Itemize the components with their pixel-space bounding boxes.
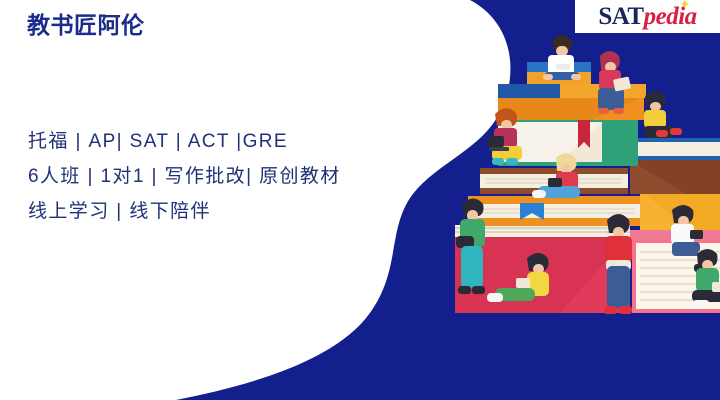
satpedia-logo[interactable]: SATpedia ✦: [575, 0, 720, 33]
person-top-reader: [543, 35, 581, 80]
course-line-formats: 6人班 | 1对1 | 写作批改| 原创教材: [28, 159, 341, 194]
page-title: 教书匠阿伦: [27, 11, 145, 39]
logo-wordmark: SATpedia ✦: [598, 3, 696, 30]
star-icon: ✦: [679, 0, 691, 12]
logo-sat-text: SAT: [598, 3, 643, 30]
person-yellow-reader: [644, 91, 682, 138]
promo-banner: 教书匠阿伦 托福 | AP| SAT | ACT |GRE 6人班 | 1对1 …: [0, 0, 720, 400]
course-info-block: 托福 | AP| SAT | ACT |GRE 6人班 | 1对1 | 写作批改…: [28, 124, 341, 229]
course-line-modes: 线上学习 | 线下陪伴: [28, 194, 341, 229]
course-line-exams: 托福 | AP| SAT | ACT |GRE: [28, 124, 341, 159]
